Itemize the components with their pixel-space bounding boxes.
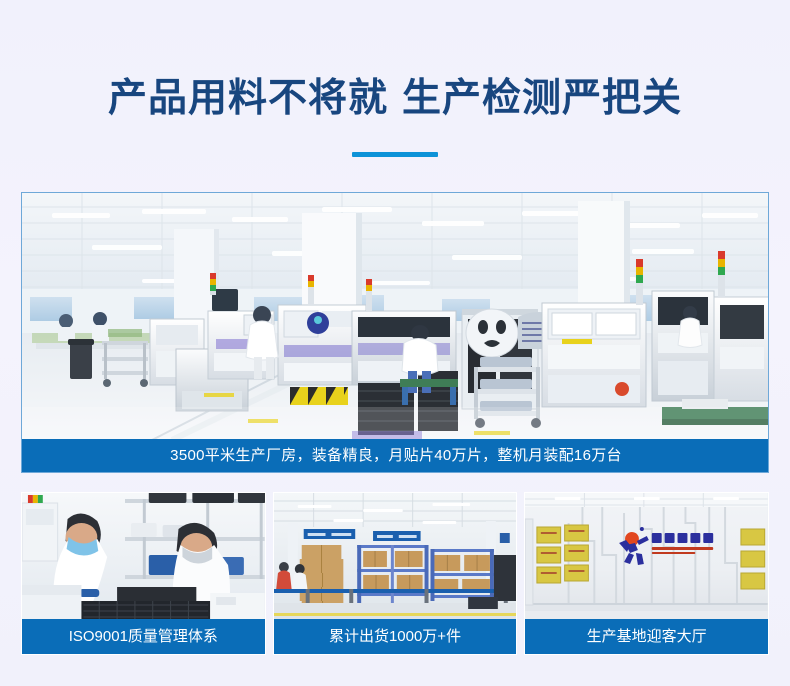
- warehouse-racks-scene: [274, 493, 517, 621]
- hero-photo-image: [22, 193, 769, 440]
- highlight-card-iso9001[interactable]: ISO9001质量管理体系: [21, 492, 266, 655]
- highlight-card-shipments[interactable]: 累计出货1000万+件: [273, 492, 518, 655]
- lobby-honor-wall-scene: [525, 493, 768, 621]
- factory-floor-scene: [22, 193, 769, 440]
- page-title-part-1: 产品用料不将就: [108, 77, 388, 120]
- page-title-part-2: 生产检测严把关: [402, 77, 682, 120]
- iso9001-caption: ISO9001质量管理体系: [22, 619, 265, 654]
- shipments-caption: 累计出货1000万+件: [274, 619, 517, 654]
- title-underline-accent: [352, 152, 438, 157]
- inspection-workbench-scene: [22, 493, 265, 621]
- hero-photo-card: 3500平米生产厂房，装备精良，月贴片40万片，整机月装配16万台: [21, 192, 769, 473]
- warehouse-photo: [274, 493, 517, 621]
- lobby-photo: [525, 493, 768, 621]
- page-heading: 产品用料不将就生产检测严把关: [0, 72, 790, 126]
- highlight-card-row: ISO9001质量管理体系: [21, 492, 769, 655]
- lobby-caption: 生产基地迎客大厅: [525, 619, 768, 654]
- page-title: 产品用料不将就生产检测严把关: [0, 72, 790, 126]
- product-quality-promo-page: 产品用料不将就生产检测严把关: [0, 0, 790, 686]
- hero-caption-bar: 3500平米生产厂房，装备精良，月贴片40万片，整机月装配16万台: [22, 439, 769, 472]
- highlight-card-lobby[interactable]: 生产基地迎客大厅: [524, 492, 769, 655]
- iso9001-photo: [22, 493, 265, 621]
